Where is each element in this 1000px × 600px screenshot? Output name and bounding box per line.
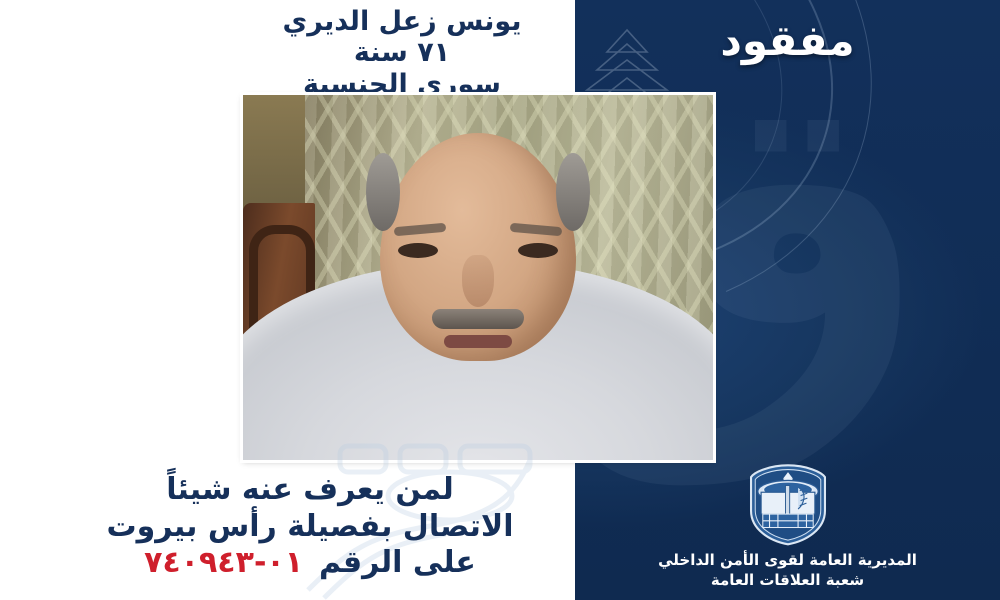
contact-line-1: لمن يعرف عنه شيئاً xyxy=(60,472,560,509)
contact-line-2: الاتصال بفصيلة رأس بيروت xyxy=(60,509,560,546)
page-title: مفقود xyxy=(575,16,1000,65)
subject-info-block: يونس زعل الديري ٧١ سنة سوري الجنسية xyxy=(232,6,572,100)
hair-left xyxy=(366,153,400,231)
nose xyxy=(462,255,494,307)
mouth xyxy=(444,335,512,348)
agency-footer: المديرية العامة لقوى الأمن الداخلي شعبة … xyxy=(575,462,1000,591)
contact-phone-label: على الرقم xyxy=(319,545,476,582)
subject-name: يونس زعل الديري xyxy=(232,6,572,37)
agency-name-line-2: شعبة العلاقات العامة xyxy=(575,570,1000,590)
agency-name-line-1: المديرية العامة لقوى الأمن الداخلي xyxy=(575,550,1000,570)
eye-left xyxy=(398,243,438,258)
contact-phone-number[interactable]: ٠١-٧٤٠٩٤٣ xyxy=(144,545,303,582)
subject-age: ٧١ سنة xyxy=(232,37,572,68)
hair-right xyxy=(556,153,590,231)
subject-photo xyxy=(243,95,713,460)
subject-photo-frame xyxy=(243,95,713,460)
isf-shield-emblem xyxy=(746,462,830,546)
person-figure xyxy=(243,95,713,460)
mustache xyxy=(432,309,524,329)
eye-right xyxy=(518,243,558,258)
missing-person-poster: ق مفقود يونس زعل الديري ٧١ سنة سوري الجن… xyxy=(0,0,1000,600)
contact-phone-row: على الرقم ٠١-٧٤٠٩٤٣ xyxy=(60,545,560,582)
contact-instructions: لمن يعرف عنه شيئاً الاتصال بفصيلة رأس بي… xyxy=(60,472,560,582)
